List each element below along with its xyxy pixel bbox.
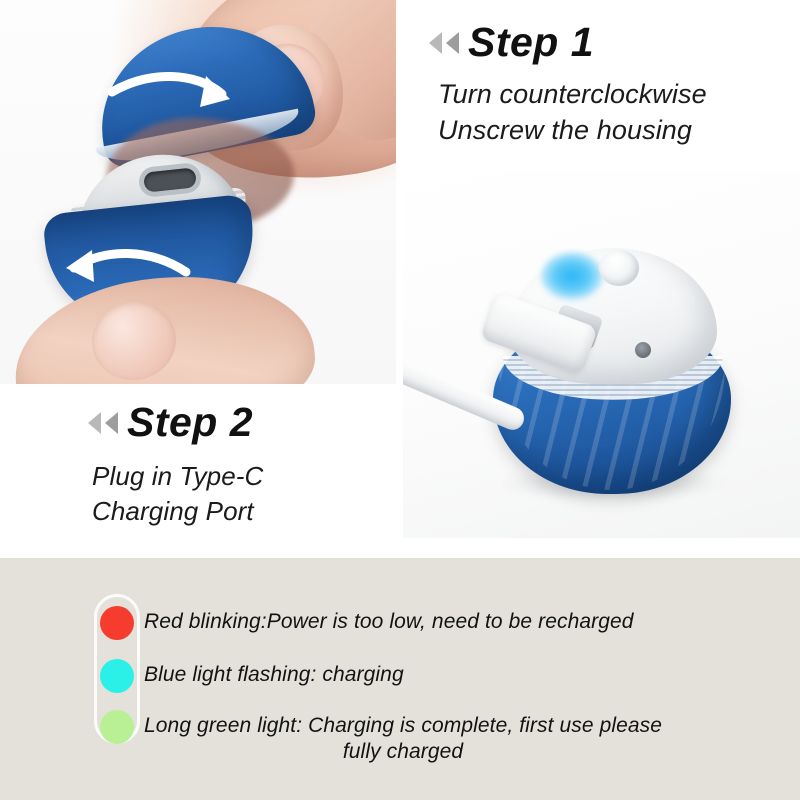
- legend-item-green-label-line1: Long green light: Charging is complete, …: [144, 714, 662, 737]
- step-1-description-line2: Unscrew the housing: [438, 113, 800, 149]
- step-2-heading: Step 2: [0, 384, 403, 443]
- step-2-description-line2: Charging Port: [92, 494, 403, 529]
- step-1-heading: Step 1: [396, 0, 800, 63]
- instruction-infographic: Step 1 Turn counterclockwise Unscrew the…: [0, 0, 800, 800]
- step-2-title: Step 2: [127, 402, 253, 443]
- left-triangle-icon-outer: [88, 412, 101, 434]
- cyan-status-dot: [100, 659, 134, 693]
- legend-item-blue-label: Blue light flashing: charging: [144, 659, 404, 688]
- step-2-text-block: Step 2 Plug in Type-C Charging Port: [0, 384, 403, 558]
- step-1-description-line1: Turn counterclockwise: [438, 77, 800, 113]
- step-2-description: Plug in Type-C Charging Port: [0, 443, 403, 528]
- step-1-description: Turn counterclockwise Unscrew the housin…: [396, 63, 800, 149]
- legend-row-list: Red blinking:Power is too low, need to b…: [0, 558, 800, 800]
- photo-charging-step2: [403, 170, 800, 538]
- legend-item-red: Red blinking:Power is too low, need to b…: [100, 606, 634, 640]
- step-2-description-line1: Plug in Type-C: [92, 459, 403, 494]
- dome-nub: [599, 250, 639, 286]
- legend-item-green: Long green light: Charging is complete, …: [100, 710, 662, 764]
- green-status-dot: [100, 710, 134, 744]
- left-triangle-icon-inner: [446, 32, 459, 54]
- legend-item-red-label: Red blinking:Power is too low, need to b…: [144, 606, 634, 635]
- dome-screw: [635, 342, 651, 358]
- red-status-dot: [100, 606, 134, 640]
- step-1-title: Step 1: [468, 22, 594, 63]
- legend-item-blue: Blue light flashing: charging: [100, 659, 404, 693]
- photo-unscrew-step1: [0, 0, 396, 384]
- legend-item-green-label: Long green light: Charging is complete, …: [144, 710, 662, 764]
- step-1-text-block: Step 1 Turn counterclockwise Unscrew the…: [396, 0, 800, 170]
- left-triangle-icon-outer: [429, 32, 442, 54]
- left-triangle-icon-inner: [105, 412, 118, 434]
- led-status-legend: Red blinking:Power is too low, need to b…: [0, 558, 800, 800]
- blue-led-indicator: [541, 252, 603, 300]
- legend-item-green-label-line2: fully charged: [144, 739, 662, 765]
